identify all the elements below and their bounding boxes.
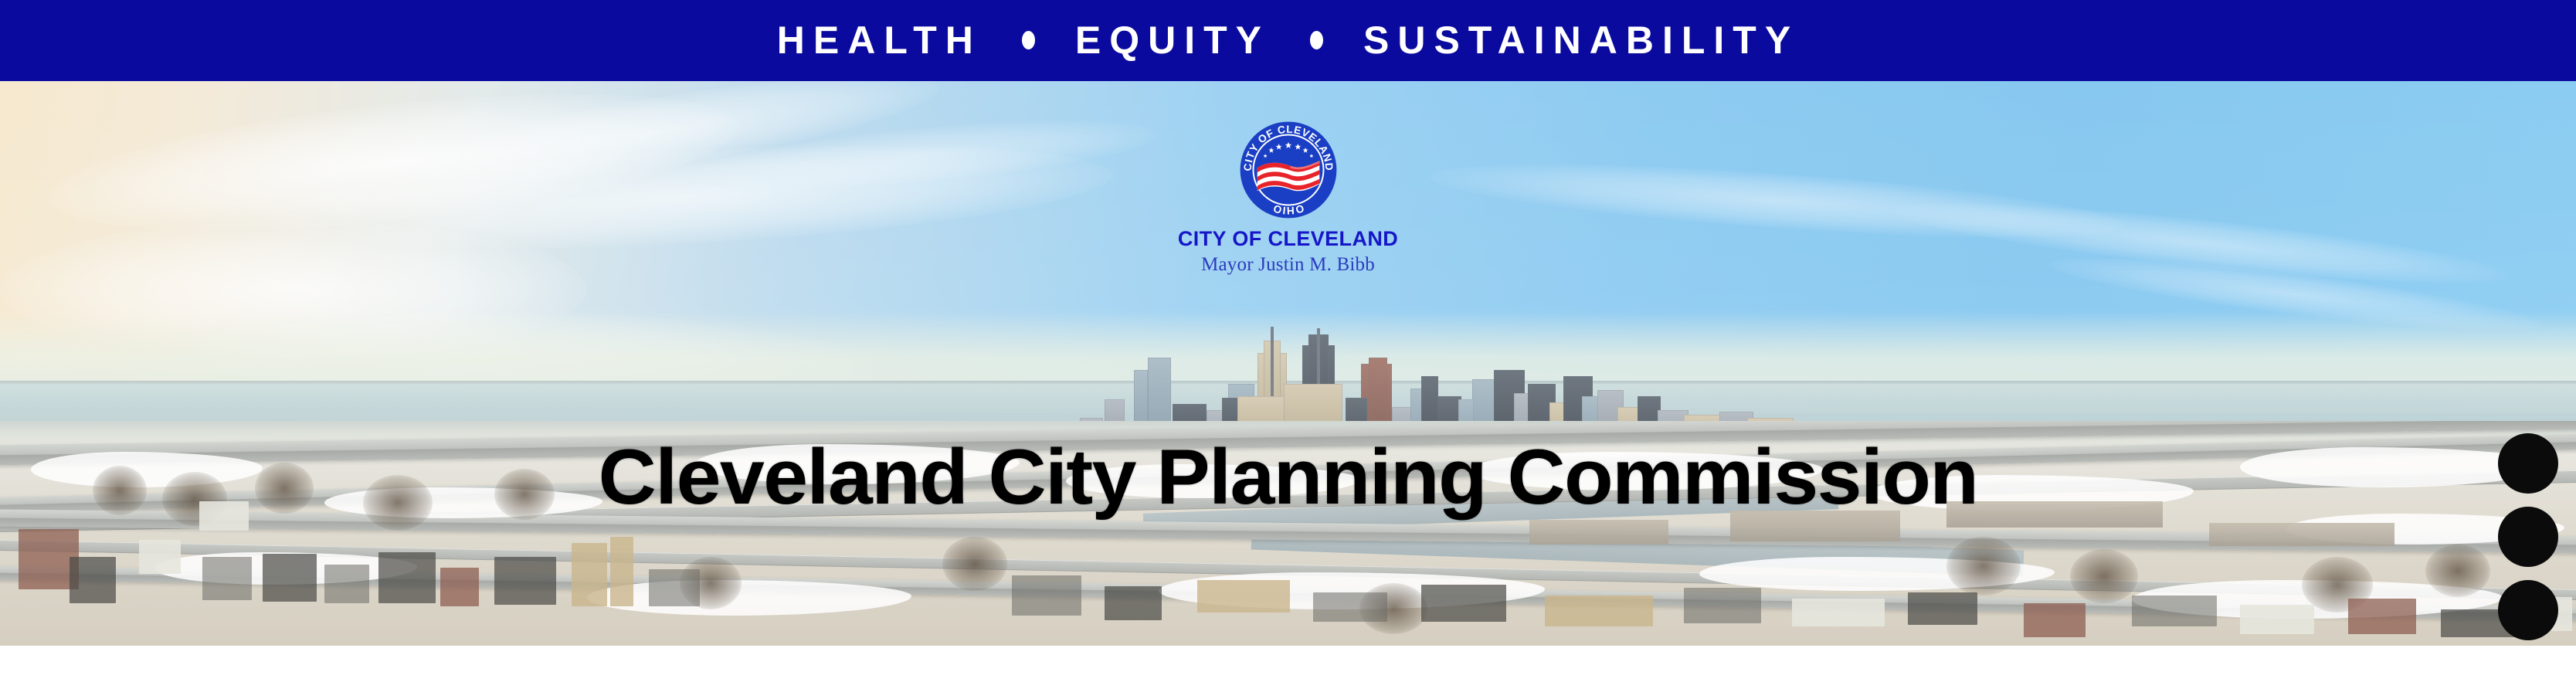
city-of-cleveland-seal-icon: CITY OF CLEVELAND OHIO <box>1238 120 1339 220</box>
social-links <box>2497 433 2559 640</box>
tagline-bar: HEALTH EQUITY SUSTAINABILITY <box>0 0 2576 81</box>
bottom-white-strip <box>0 646 2576 682</box>
facebook-link[interactable] <box>2498 580 2558 640</box>
mayor-name: Mayor Justin M. Bibb <box>1088 254 1489 277</box>
tagline-word-equity: EQUITY <box>1075 21 1270 59</box>
city-branding-block: CITY OF CLEVELAND OHIO <box>1088 120 1489 276</box>
bullet-dot-icon <box>1022 31 1035 49</box>
instagram-link[interactable] <box>2498 507 2558 567</box>
bullet-dot-icon <box>1310 31 1323 49</box>
tagline-word-sustainability: SUSTAINABILITY <box>1363 21 1799 59</box>
youtube-link[interactable] <box>2498 433 2558 494</box>
tagline-inner: HEALTH EQUITY SUSTAINABILITY <box>777 21 1799 59</box>
org-name: CITY OF CLEVELAND <box>1088 228 1489 251</box>
cleveland-planning-commission-banner: HEALTH EQUITY SUSTAINABILITY <box>0 0 2576 682</box>
tagline-word-health: HEALTH <box>777 21 982 59</box>
page-title: Cleveland City Planning Commission <box>0 439 2576 517</box>
